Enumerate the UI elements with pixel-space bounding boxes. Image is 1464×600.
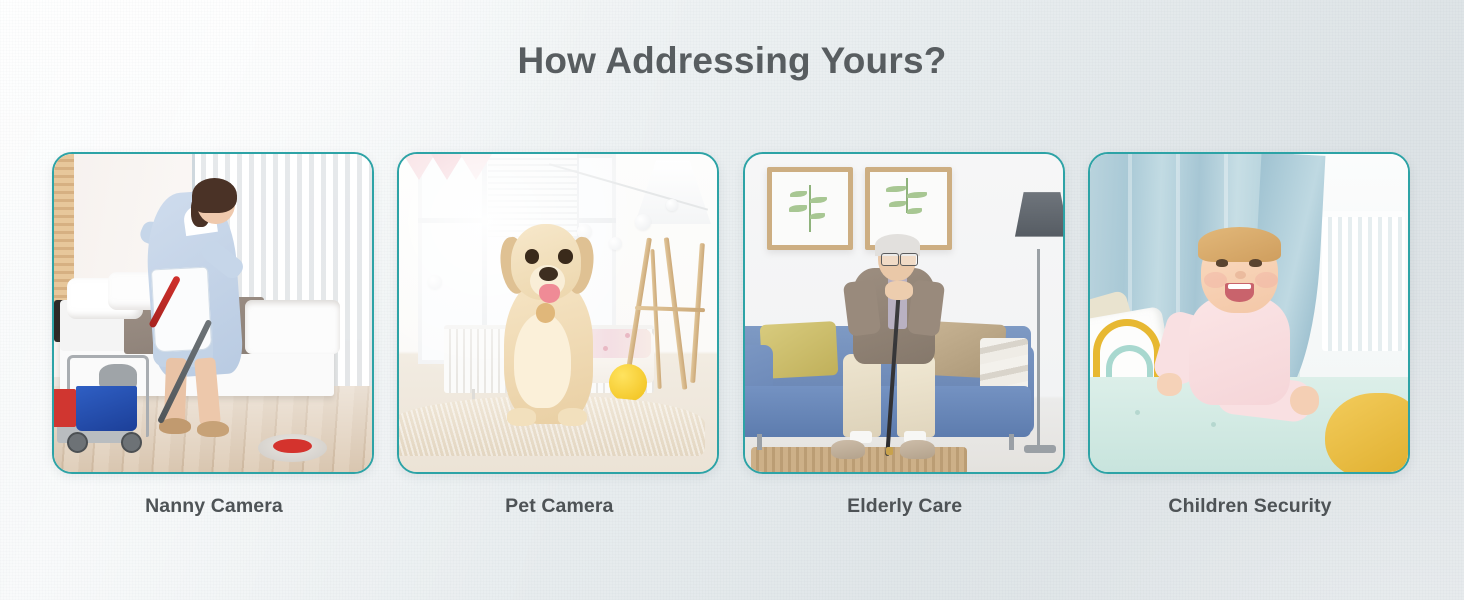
crib-rails (1322, 211, 1405, 351)
card-frame-nanny-camera[interactable] (52, 152, 374, 474)
feature-card-elderly-care[interactable]: Elderly Care (743, 152, 1067, 476)
walking-cane-tip (886, 447, 893, 455)
card-frame-children-security[interactable] (1088, 152, 1410, 474)
floor-lamp-base (1024, 445, 1056, 453)
children-security-image (1090, 154, 1408, 472)
card-frame-pet-camera[interactable] (397, 152, 719, 474)
slipper (831, 440, 866, 459)
slipper (900, 440, 935, 459)
dog-paw (507, 408, 536, 425)
plant-leaf (907, 208, 922, 214)
garland-ball (666, 199, 678, 211)
dog-collar-tag (536, 303, 555, 322)
blue-bucket (76, 386, 136, 431)
baby-hand (1157, 373, 1182, 395)
sofa-leg (1009, 434, 1014, 450)
plant-leaf (886, 186, 906, 192)
card-caption-children-security: Children Security (1088, 495, 1412, 518)
easel-leg (664, 237, 688, 389)
feature-card-nanny-camera[interactable]: Nanny Camera (52, 152, 376, 476)
plant-leaf (907, 192, 927, 198)
baby-hair (1198, 227, 1281, 262)
baby-teeth (1228, 284, 1250, 290)
dog-eye (525, 249, 539, 263)
red-bucket (54, 389, 76, 427)
plant-leaf (810, 213, 825, 219)
card-caption-pet-camera: Pet Camera (397, 495, 721, 518)
elderly-man-leg (897, 354, 935, 437)
card-caption-elderly-care: Elderly Care (743, 495, 1067, 518)
sofa-leg (757, 434, 762, 450)
cart-wheel (67, 432, 88, 453)
eyeglasses-lens (900, 253, 918, 266)
dog-paw (558, 408, 587, 425)
floor-lamp-pole (1037, 249, 1040, 446)
easel-leg (690, 243, 705, 383)
baby-cheek (1255, 272, 1277, 288)
page-title: How Addressing Yours? (0, 40, 1464, 82)
elderly-man-leg (843, 354, 881, 437)
plant-leaf (790, 191, 807, 198)
mop-disc (273, 439, 311, 454)
plant-leaf (810, 197, 827, 204)
yellow-toy-ball (609, 364, 647, 402)
card-caption-nanny-camera: Nanny Camera (52, 495, 376, 518)
card-frame-elderly-care[interactable] (743, 152, 1065, 474)
baby-nose (1235, 271, 1246, 279)
plant-stem (809, 185, 811, 232)
eyeglasses-lens (881, 253, 899, 266)
floor-lamp-shade (1015, 192, 1063, 237)
promo-banner: How Addressing Yours? (0, 0, 1464, 600)
housekeeper-hair (192, 178, 237, 213)
plant-leaf (789, 205, 807, 212)
dog-chest (514, 313, 571, 408)
baby-onesie (1189, 297, 1291, 405)
nanny-camera-image (54, 154, 372, 472)
plant-leaf (889, 201, 906, 207)
feature-card-children-security[interactable]: Children Security (1088, 152, 1412, 476)
baby-eye (1216, 259, 1229, 267)
wall-art-frame (767, 167, 853, 250)
bed-duvet (245, 300, 340, 354)
dog-eye (558, 249, 572, 263)
cart-wheel (121, 432, 142, 453)
feature-card-grid: Nanny Camera (52, 152, 1412, 476)
pet-camera-image (399, 154, 717, 472)
baby-eye (1249, 259, 1262, 267)
housekeeper-shoe (197, 421, 229, 437)
feature-card-pet-camera[interactable]: Pet Camera (397, 152, 721, 476)
elderly-care-image (745, 154, 1063, 472)
baby-foot (1290, 386, 1319, 415)
baby-cheek (1204, 272, 1226, 288)
mattress-tuft (1135, 410, 1140, 415)
elderly-man-hands (885, 281, 914, 300)
